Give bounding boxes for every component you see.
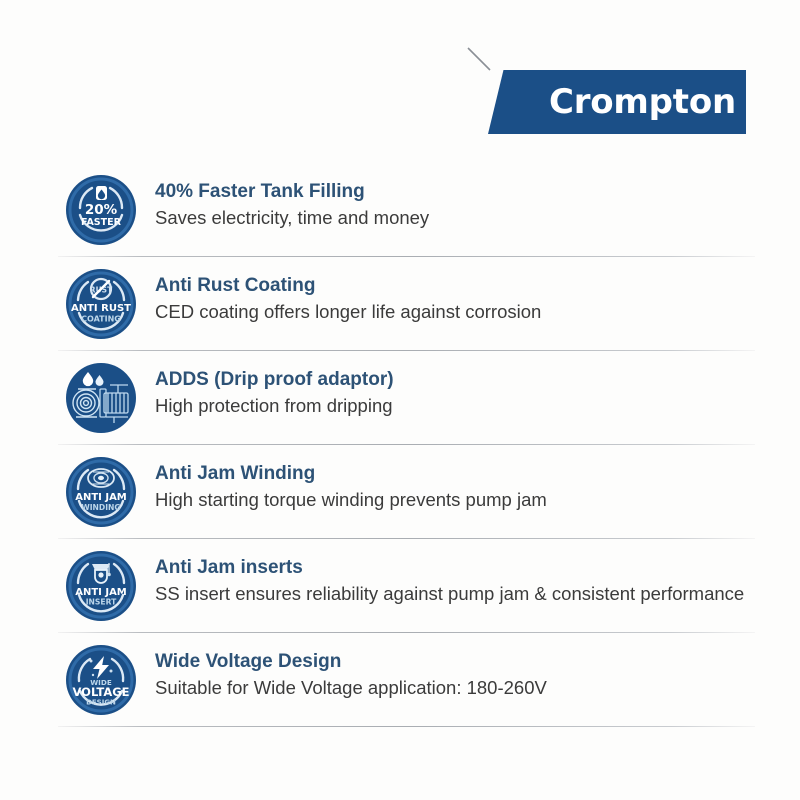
drip-proof-adaptor-icon bbox=[66, 363, 136, 433]
svg-text:INSERT: INSERT bbox=[86, 598, 117, 607]
anti-jam-winding-icon: ANTI JAM WINDING bbox=[66, 457, 136, 527]
faster-tank-filling-icon: 20% FASTER bbox=[66, 175, 136, 245]
feature-description: Saves electricity, time and money bbox=[155, 206, 429, 230]
diagonal-tick-icon bbox=[466, 46, 492, 72]
feature-text: ADDS (Drip proof adaptor) High protectio… bbox=[155, 363, 394, 418]
anti-jam-insert-icon: ANTI JAM INSERT bbox=[66, 551, 136, 621]
svg-text:20%: 20% bbox=[85, 202, 118, 218]
brand-name: Crompton bbox=[549, 85, 736, 119]
feature-description: High protection from dripping bbox=[155, 394, 394, 418]
feature-title: Anti Jam inserts bbox=[155, 556, 744, 579]
feature-text: Anti Rust Coating CED coating offers lon… bbox=[155, 269, 541, 324]
svg-text:VOLTAGE: VOLTAGE bbox=[72, 685, 129, 699]
feature-row: WIDE VOLTAGE DESIGN Wide Voltage Design … bbox=[0, 633, 800, 727]
feature-description: High starting torque winding prevents pu… bbox=[155, 488, 547, 512]
feature-text: Anti Jam Winding High starting torque wi… bbox=[155, 457, 547, 512]
feature-row: RUST ANTI RUST COATING Anti Rust Coating… bbox=[0, 257, 800, 351]
svg-text:ANTI JAM: ANTI JAM bbox=[75, 587, 127, 598]
svg-text:ANTI JAM: ANTI JAM bbox=[75, 492, 127, 503]
row-divider bbox=[58, 726, 755, 727]
feature-title: Anti Rust Coating bbox=[155, 274, 541, 297]
feature-text: Anti Jam inserts SS insert ensures relia… bbox=[155, 551, 744, 606]
anti-rust-coating-icon: RUST ANTI RUST COATING bbox=[66, 269, 136, 339]
feature-row: ADDS (Drip proof adaptor) High protectio… bbox=[0, 351, 800, 445]
feature-title: Wide Voltage Design bbox=[155, 650, 547, 673]
feature-row: ANTI JAM WINDING Anti Jam Winding High s… bbox=[0, 445, 800, 539]
feature-description: CED coating offers longer life against c… bbox=[155, 300, 541, 324]
feature-list: 20% FASTER 40% Faster Tank Filling Saves… bbox=[0, 163, 800, 727]
svg-text:COATING: COATING bbox=[81, 315, 121, 324]
svg-text:FASTER: FASTER bbox=[81, 217, 122, 228]
feature-title: 40% Faster Tank Filling bbox=[155, 180, 429, 203]
feature-title: Anti Jam Winding bbox=[155, 462, 547, 485]
feature-text: 40% Faster Tank Filling Saves electricit… bbox=[155, 175, 429, 230]
brand-banner: Crompton bbox=[488, 70, 746, 134]
svg-text:WINDING: WINDING bbox=[81, 503, 120, 512]
feature-row: 20% FASTER 40% Faster Tank Filling Saves… bbox=[0, 163, 800, 257]
svg-text:DESIGN: DESIGN bbox=[86, 699, 116, 707]
svg-text:ANTI RUST: ANTI RUST bbox=[71, 303, 131, 314]
feature-description: Suitable for Wide Voltage application: 1… bbox=[155, 676, 547, 700]
feature-description: SS insert ensures reliability against pu… bbox=[155, 582, 744, 606]
feature-row: ANTI JAM INSERT Anti Jam inserts SS inse… bbox=[0, 539, 800, 633]
wide-voltage-design-icon: WIDE VOLTAGE DESIGN bbox=[66, 645, 136, 715]
feature-text: Wide Voltage Design Suitable for Wide Vo… bbox=[155, 645, 547, 700]
feature-title: ADDS (Drip proof adaptor) bbox=[155, 368, 394, 391]
